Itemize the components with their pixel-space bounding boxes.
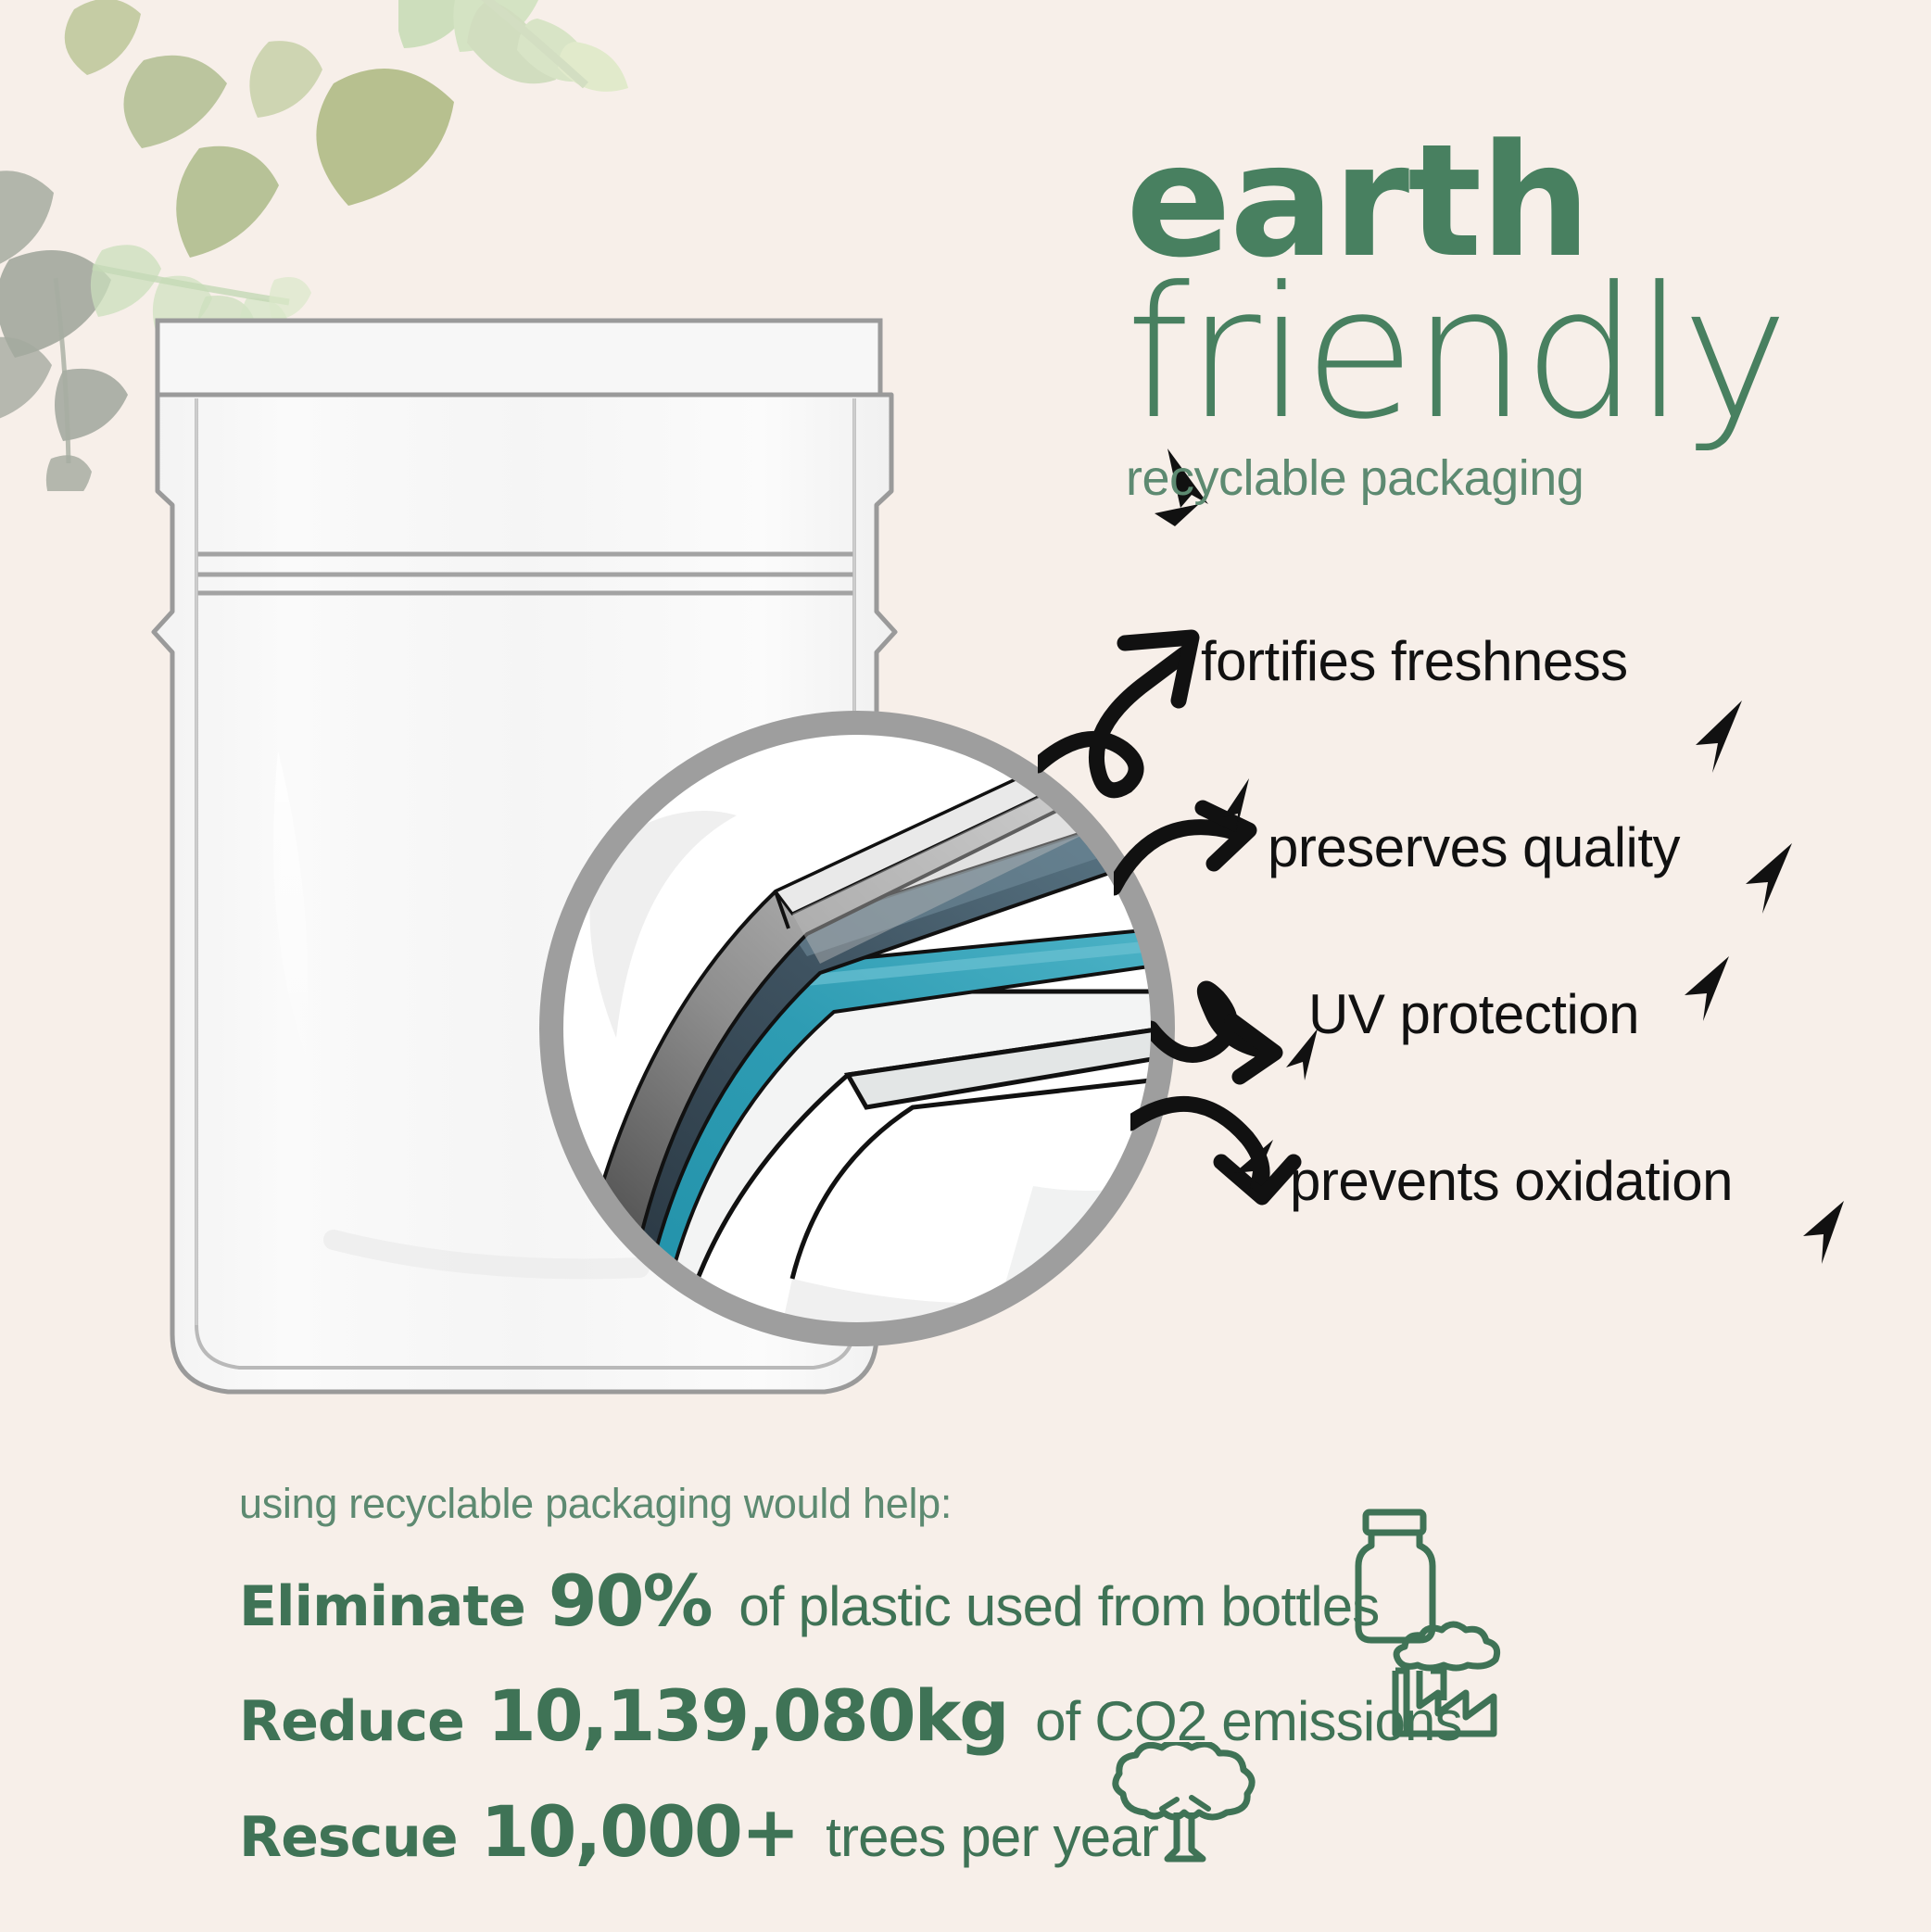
stat-row-reduce: Reduce 10,139,080kg of CO2 emissions — [239, 1674, 1462, 1757]
feature-prevents-oxidation: prevents oxidation — [1290, 1149, 1733, 1213]
infographic-canvas: fortifies freshness preserves quality UV… — [0, 0, 1931, 1932]
stat-number: 10,000+ — [481, 1790, 821, 1873]
stat-verb: Rescue — [239, 1805, 475, 1870]
page-title-friendly: friendly — [1126, 268, 1895, 440]
stat-description: of plastic used from bottles — [738, 1575, 1379, 1637]
spark-mark-icon — [1729, 840, 1812, 932]
feature-label: UV protection — [1308, 982, 1639, 1046]
curl-arrow-up-right-icon — [1038, 584, 1279, 806]
stat-verb: Reduce — [239, 1689, 483, 1754]
stat-number: 90% — [549, 1559, 734, 1642]
leaf-decoration-top — [398, 0, 769, 167]
factory-smoke-icon — [1390, 1617, 1510, 1742]
spark-mark-icon — [1214, 777, 1269, 841]
spark-mark-icon — [1664, 954, 1748, 1038]
stat-row-rescue: Rescue 10,000+ trees per year — [239, 1790, 1158, 1873]
spark-mark-icon — [1673, 697, 1766, 799]
headline-block: earth friendly recyclable packaging — [1126, 130, 1895, 507]
feature-fortifies-freshness: fortifies freshness — [1201, 629, 1628, 693]
stat-number: 10,139,080kg — [487, 1674, 1030, 1757]
spark-mark-icon — [1219, 1136, 1294, 1210]
feature-label: prevents oxidation — [1290, 1149, 1733, 1213]
stat-verb: Eliminate — [239, 1574, 544, 1639]
stat-row-eliminate: Eliminate 90% of plastic used from bottl… — [239, 1559, 1380, 1642]
feature-preserves-quality: preserves quality — [1268, 815, 1680, 879]
feature-uv-protection: UV protection — [1308, 982, 1639, 1046]
spark-mark-icon — [1790, 1197, 1864, 1281]
stats-intro-text: using recyclable packaging would help: — [239, 1480, 952, 1528]
feature-label: fortifies freshness — [1201, 629, 1628, 693]
tree-icon — [1103, 1742, 1269, 1872]
feature-label: preserves quality — [1268, 815, 1680, 879]
